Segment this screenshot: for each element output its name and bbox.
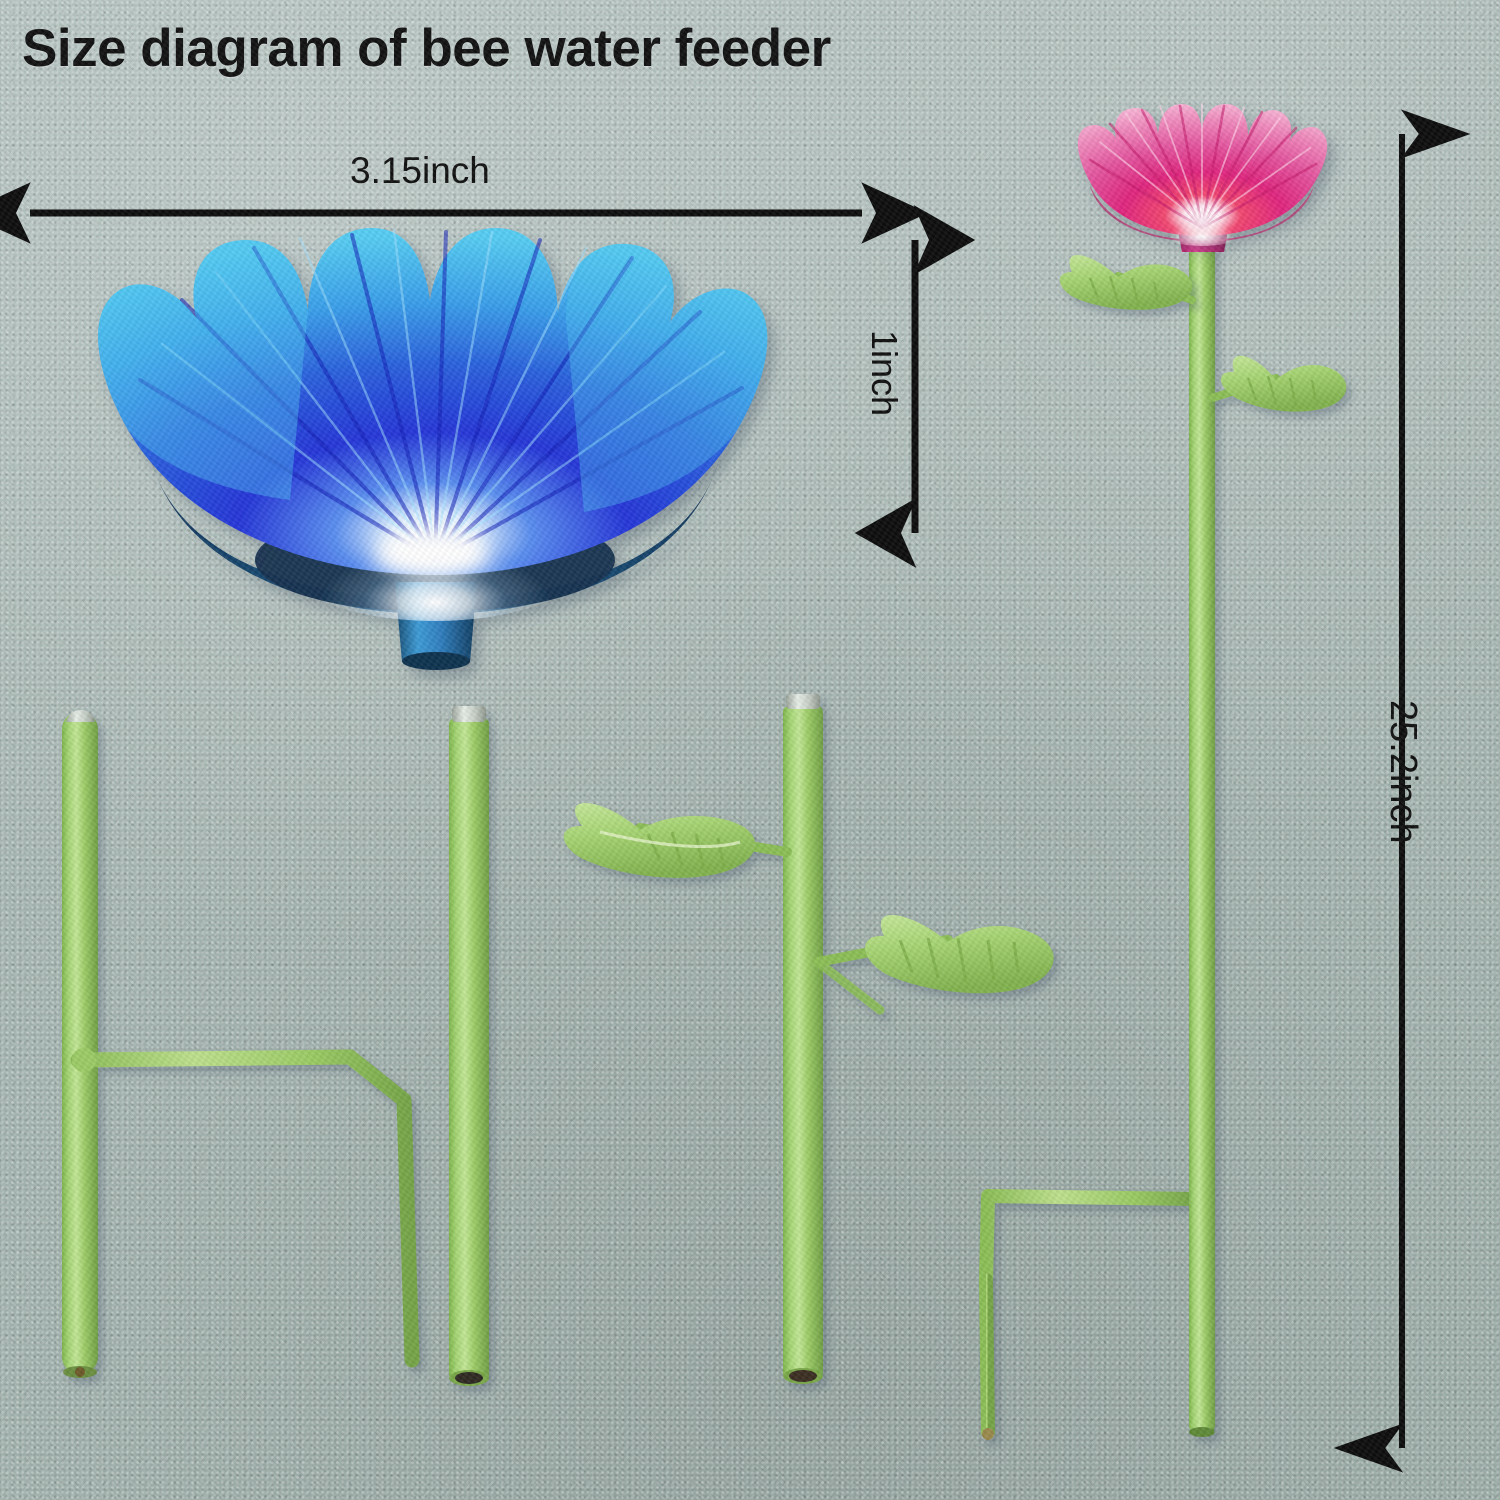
blue-flower-dish <box>98 228 767 670</box>
rod-3-threaded-tip <box>786 694 820 709</box>
diagram-canvas: Size diagram of bee water feeder <box>0 0 1500 1500</box>
dish-rim-light <box>98 240 308 500</box>
assembled-flower-stake <box>986 104 1346 1437</box>
rod-3-leaf-left <box>564 803 787 878</box>
rod-3-branch-stub <box>818 962 880 1010</box>
rod-1-tip <box>66 710 95 722</box>
assembled-stem <box>1189 238 1215 1434</box>
pink-flower-head <box>1078 104 1327 246</box>
product-illustrations <box>0 0 1500 1500</box>
rod-1-body <box>62 712 98 1374</box>
rod-3-leaf-right <box>818 915 1054 993</box>
stake-part-plain-rod <box>449 706 489 1386</box>
assembled-leaf-lower <box>1212 356 1346 412</box>
stake-foot-bracket <box>982 1196 1196 1440</box>
assembled-stake-foot <box>986 1196 1196 1292</box>
rod-3-body <box>783 706 823 1378</box>
rod-2-body <box>449 718 489 1380</box>
assembled-leaf-upper <box>1060 255 1193 310</box>
rod-2-open-end <box>455 1372 483 1384</box>
stake-part-rod-with-foot <box>62 710 412 1378</box>
rod-2-threaded-tip <box>452 706 486 722</box>
rod-1-foot-arm <box>78 1057 412 1360</box>
foot-bracket-path <box>986 1196 1196 1280</box>
dish-rim-light-right <box>566 244 767 512</box>
